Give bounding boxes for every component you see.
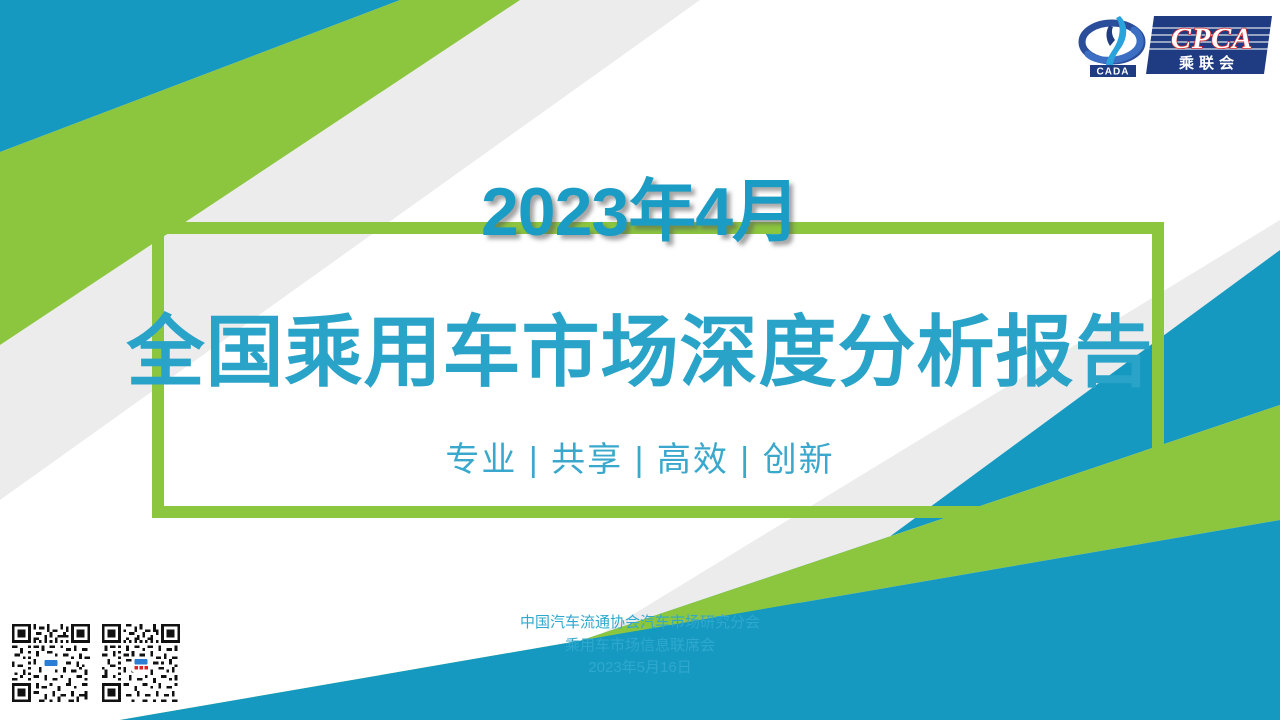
- footer-line-organization: 中国汽车流通协会汽车市场研究分会: [0, 612, 1280, 635]
- cada-emblem-text: CADA: [1097, 67, 1130, 78]
- cpca-brand-text: CPCA: [1171, 22, 1253, 55]
- slide-footer: 中国汽车流通协会汽车市场研究分会 乘用车市场信息联席会 2023年5月16日: [0, 612, 1280, 680]
- cpca-cada-logo: CADA CPCA 乘联会: [1072, 8, 1272, 80]
- qr-center-logo-icon: [44, 660, 57, 666]
- slide-tagline: 专业 | 共享 | 高效 | 创新: [0, 432, 1280, 481]
- footer-line-committee: 乘用车市场信息联席会: [0, 635, 1280, 658]
- presentation-slide: CADA CPCA 乘联会 2023年4月 全国乘用车市场深度分析报告 专业 |…: [0, 0, 1280, 720]
- qr-code-right[interactable]: [102, 624, 180, 702]
- slide-main-title: 全国乘用车市场深度分析报告: [0, 312, 1280, 394]
- qr-code-left[interactable]: [12, 624, 90, 702]
- cada-emblem-icon: CADA: [1082, 16, 1142, 78]
- cpca-brand-cn-text: 乘联会: [1178, 54, 1239, 72]
- footer-line-date: 2023年5月16日: [0, 657, 1280, 680]
- qr-code-group: [12, 624, 180, 702]
- cpca-brand-block: CPCA 乘联会: [1146, 16, 1272, 74]
- slide-date-title: 2023年4月: [0, 178, 1280, 246]
- qr-center-logo-icon: [134, 659, 147, 664]
